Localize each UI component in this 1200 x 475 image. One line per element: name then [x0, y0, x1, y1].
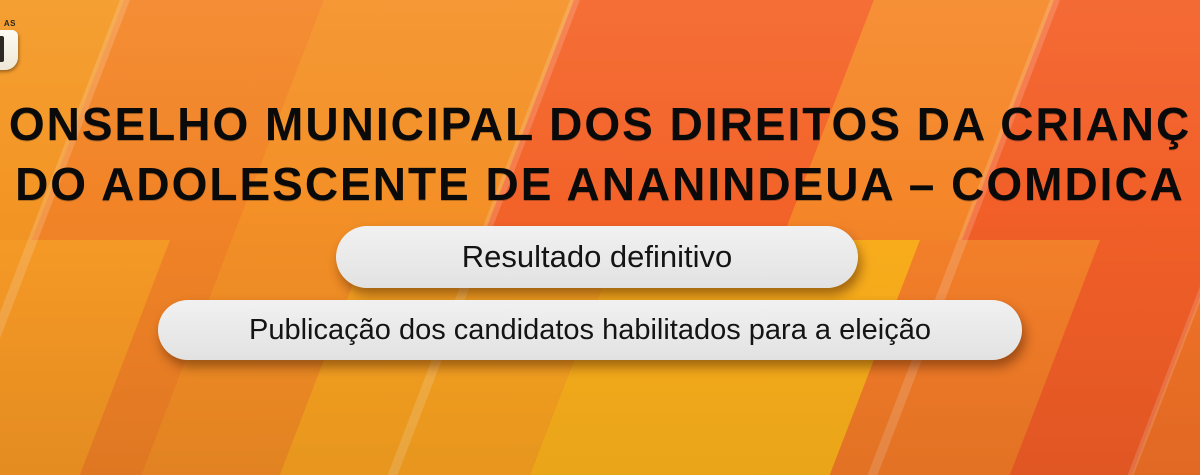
logo-crest-text: AS [0, 18, 16, 30]
publication-pill[interactable]: Publicação dos candidatos habilitados pa… [158, 300, 1022, 360]
institution-logo: AS [0, 18, 24, 72]
logo-emblem-icon [0, 30, 18, 70]
result-status-pill[interactable]: Resultado definitivo [336, 226, 858, 288]
banner-title: ONSELHO MUNICIPAL DOS DIREITOS DA CRIANÇ… [0, 94, 1200, 214]
banner-title-line-2: DO ADOLESCENTE DE ANANINDEUA – COMDICA [0, 154, 1200, 214]
banner-title-line-1: ONSELHO MUNICIPAL DOS DIREITOS DA CRIANÇ [0, 94, 1200, 154]
result-status-pill-label: Resultado definitivo [462, 239, 733, 275]
announcement-banner: AS ONSELHO MUNICIPAL DOS DIREITOS DA CRI… [0, 0, 1200, 475]
publication-pill-label: Publicação dos candidatos habilitados pa… [249, 314, 931, 347]
